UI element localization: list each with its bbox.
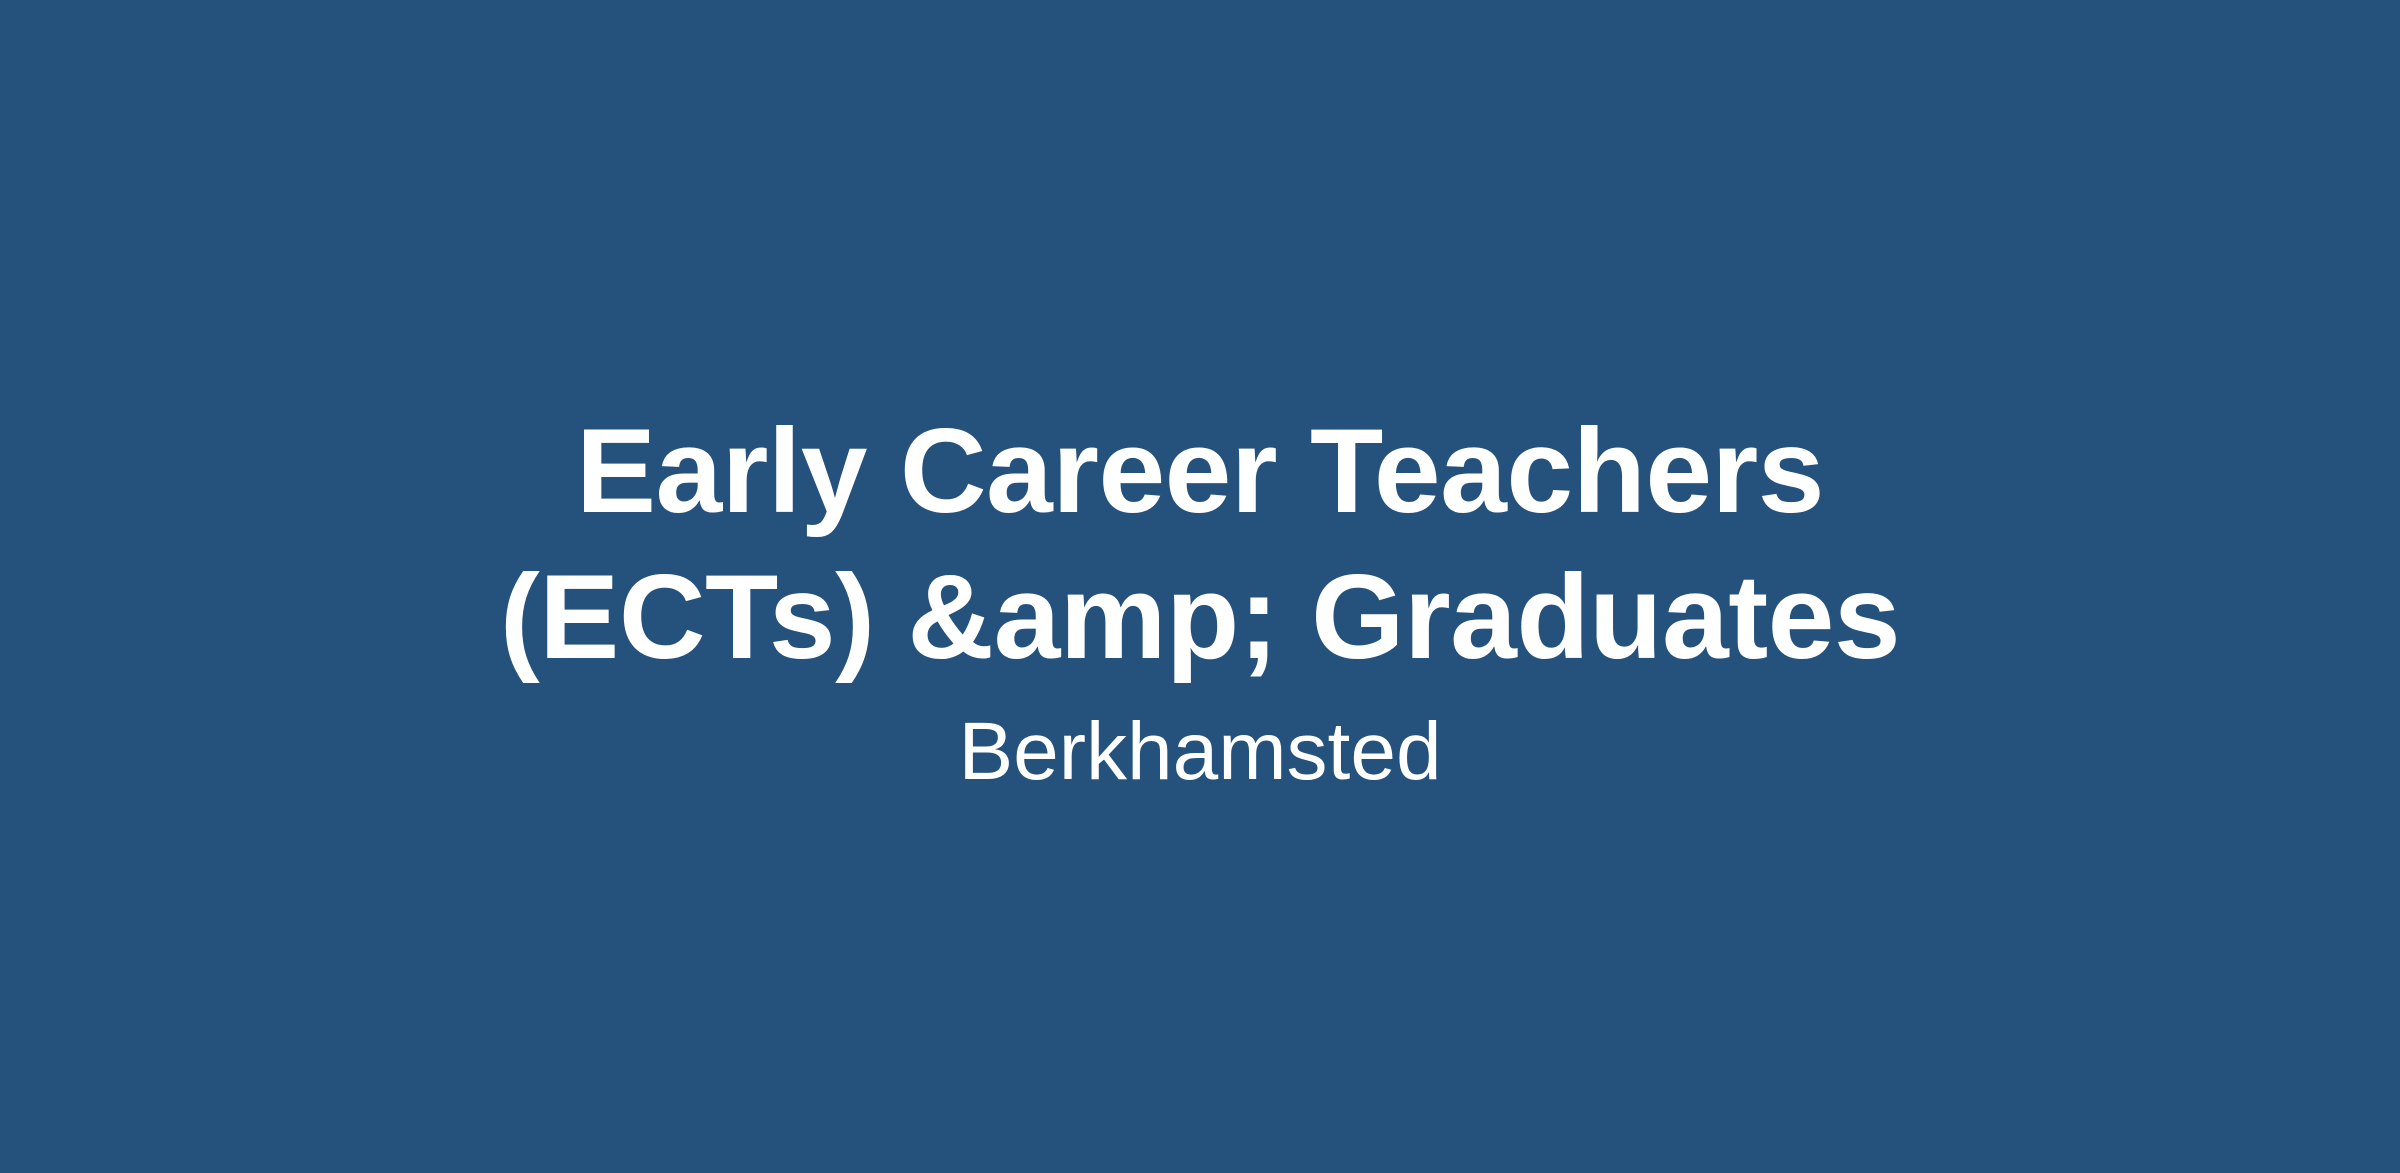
- page-subtitle: Berkhamsted: [958, 705, 1441, 799]
- page-title: Early Career Teachers (ECTs) &amp; Gradu…: [490, 398, 1910, 691]
- hero-content: Early Career Teachers (ECTs) &amp; Gradu…: [490, 398, 1910, 799]
- hero-banner: Early Career Teachers (ECTs) &amp; Gradu…: [0, 0, 2400, 1173]
